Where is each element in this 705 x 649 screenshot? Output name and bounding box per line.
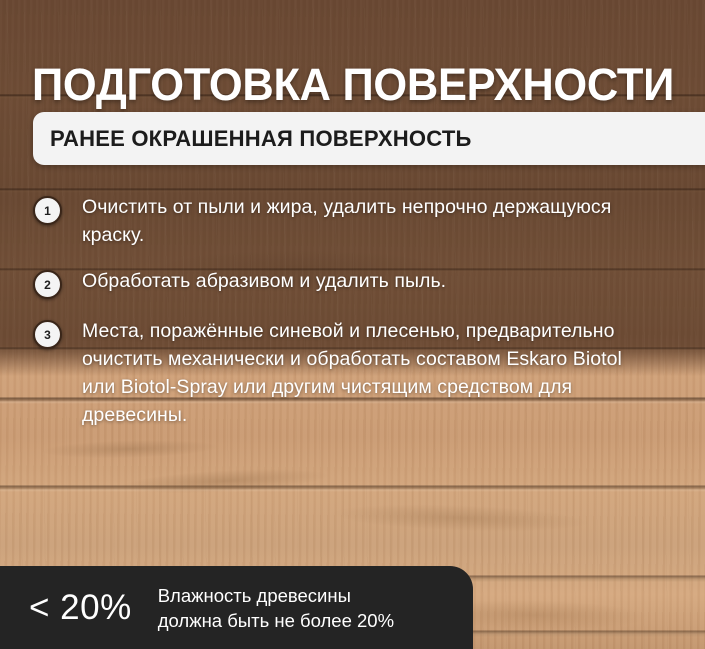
poster-root: ПОДГОТОВКА ПОВЕРХНОСТИ РАНЕЕ ОКРАШЕННАЯ … xyxy=(0,0,705,649)
moisture-description: Влажность древесины должна быть не более… xyxy=(158,583,394,633)
step-number-badge: 1 xyxy=(33,196,62,225)
moisture-badge: < 20% Влажность древесины должна быть не… xyxy=(0,566,473,649)
step-text: Обработать абразивом и удалить пыль. xyxy=(82,267,446,295)
moisture-value: < 20% xyxy=(29,588,132,628)
moisture-description-line-1: Влажность древесины xyxy=(158,585,351,606)
step-number-badge: 2 xyxy=(33,270,62,299)
poster-content: ПОДГОТОВКА ПОВЕРХНОСТИ РАНЕЕ ОКРАШЕННАЯ … xyxy=(0,0,705,649)
list-item: 2 Обработать абразивом и удалить пыль. xyxy=(0,267,705,299)
steps-list: 1 Очистить от пыли и жира, удалить непро… xyxy=(0,193,705,447)
step-text: Очистить от пыли и жира, удалить непрочн… xyxy=(82,193,652,249)
subtitle-text: РАНЕЕ ОКРАШЕННАЯ ПОВЕРХНОСТЬ xyxy=(50,126,472,152)
page-title: ПОДГОТОВКА ПОВЕРХНОСТИ xyxy=(32,59,674,111)
step-text: Места, поражённые синевой и плесенью, пр… xyxy=(82,317,652,429)
moisture-description-line-2: должна быть не более 20% xyxy=(158,610,394,631)
list-item: 1 Очистить от пыли и жира, удалить непро… xyxy=(0,193,705,249)
step-number-badge: 3 xyxy=(33,320,62,349)
subtitle-banner: РАНЕЕ ОКРАШЕННАЯ ПОВЕРХНОСТЬ xyxy=(33,112,705,165)
list-item: 3 Места, поражённые синевой и плесенью, … xyxy=(0,317,705,429)
